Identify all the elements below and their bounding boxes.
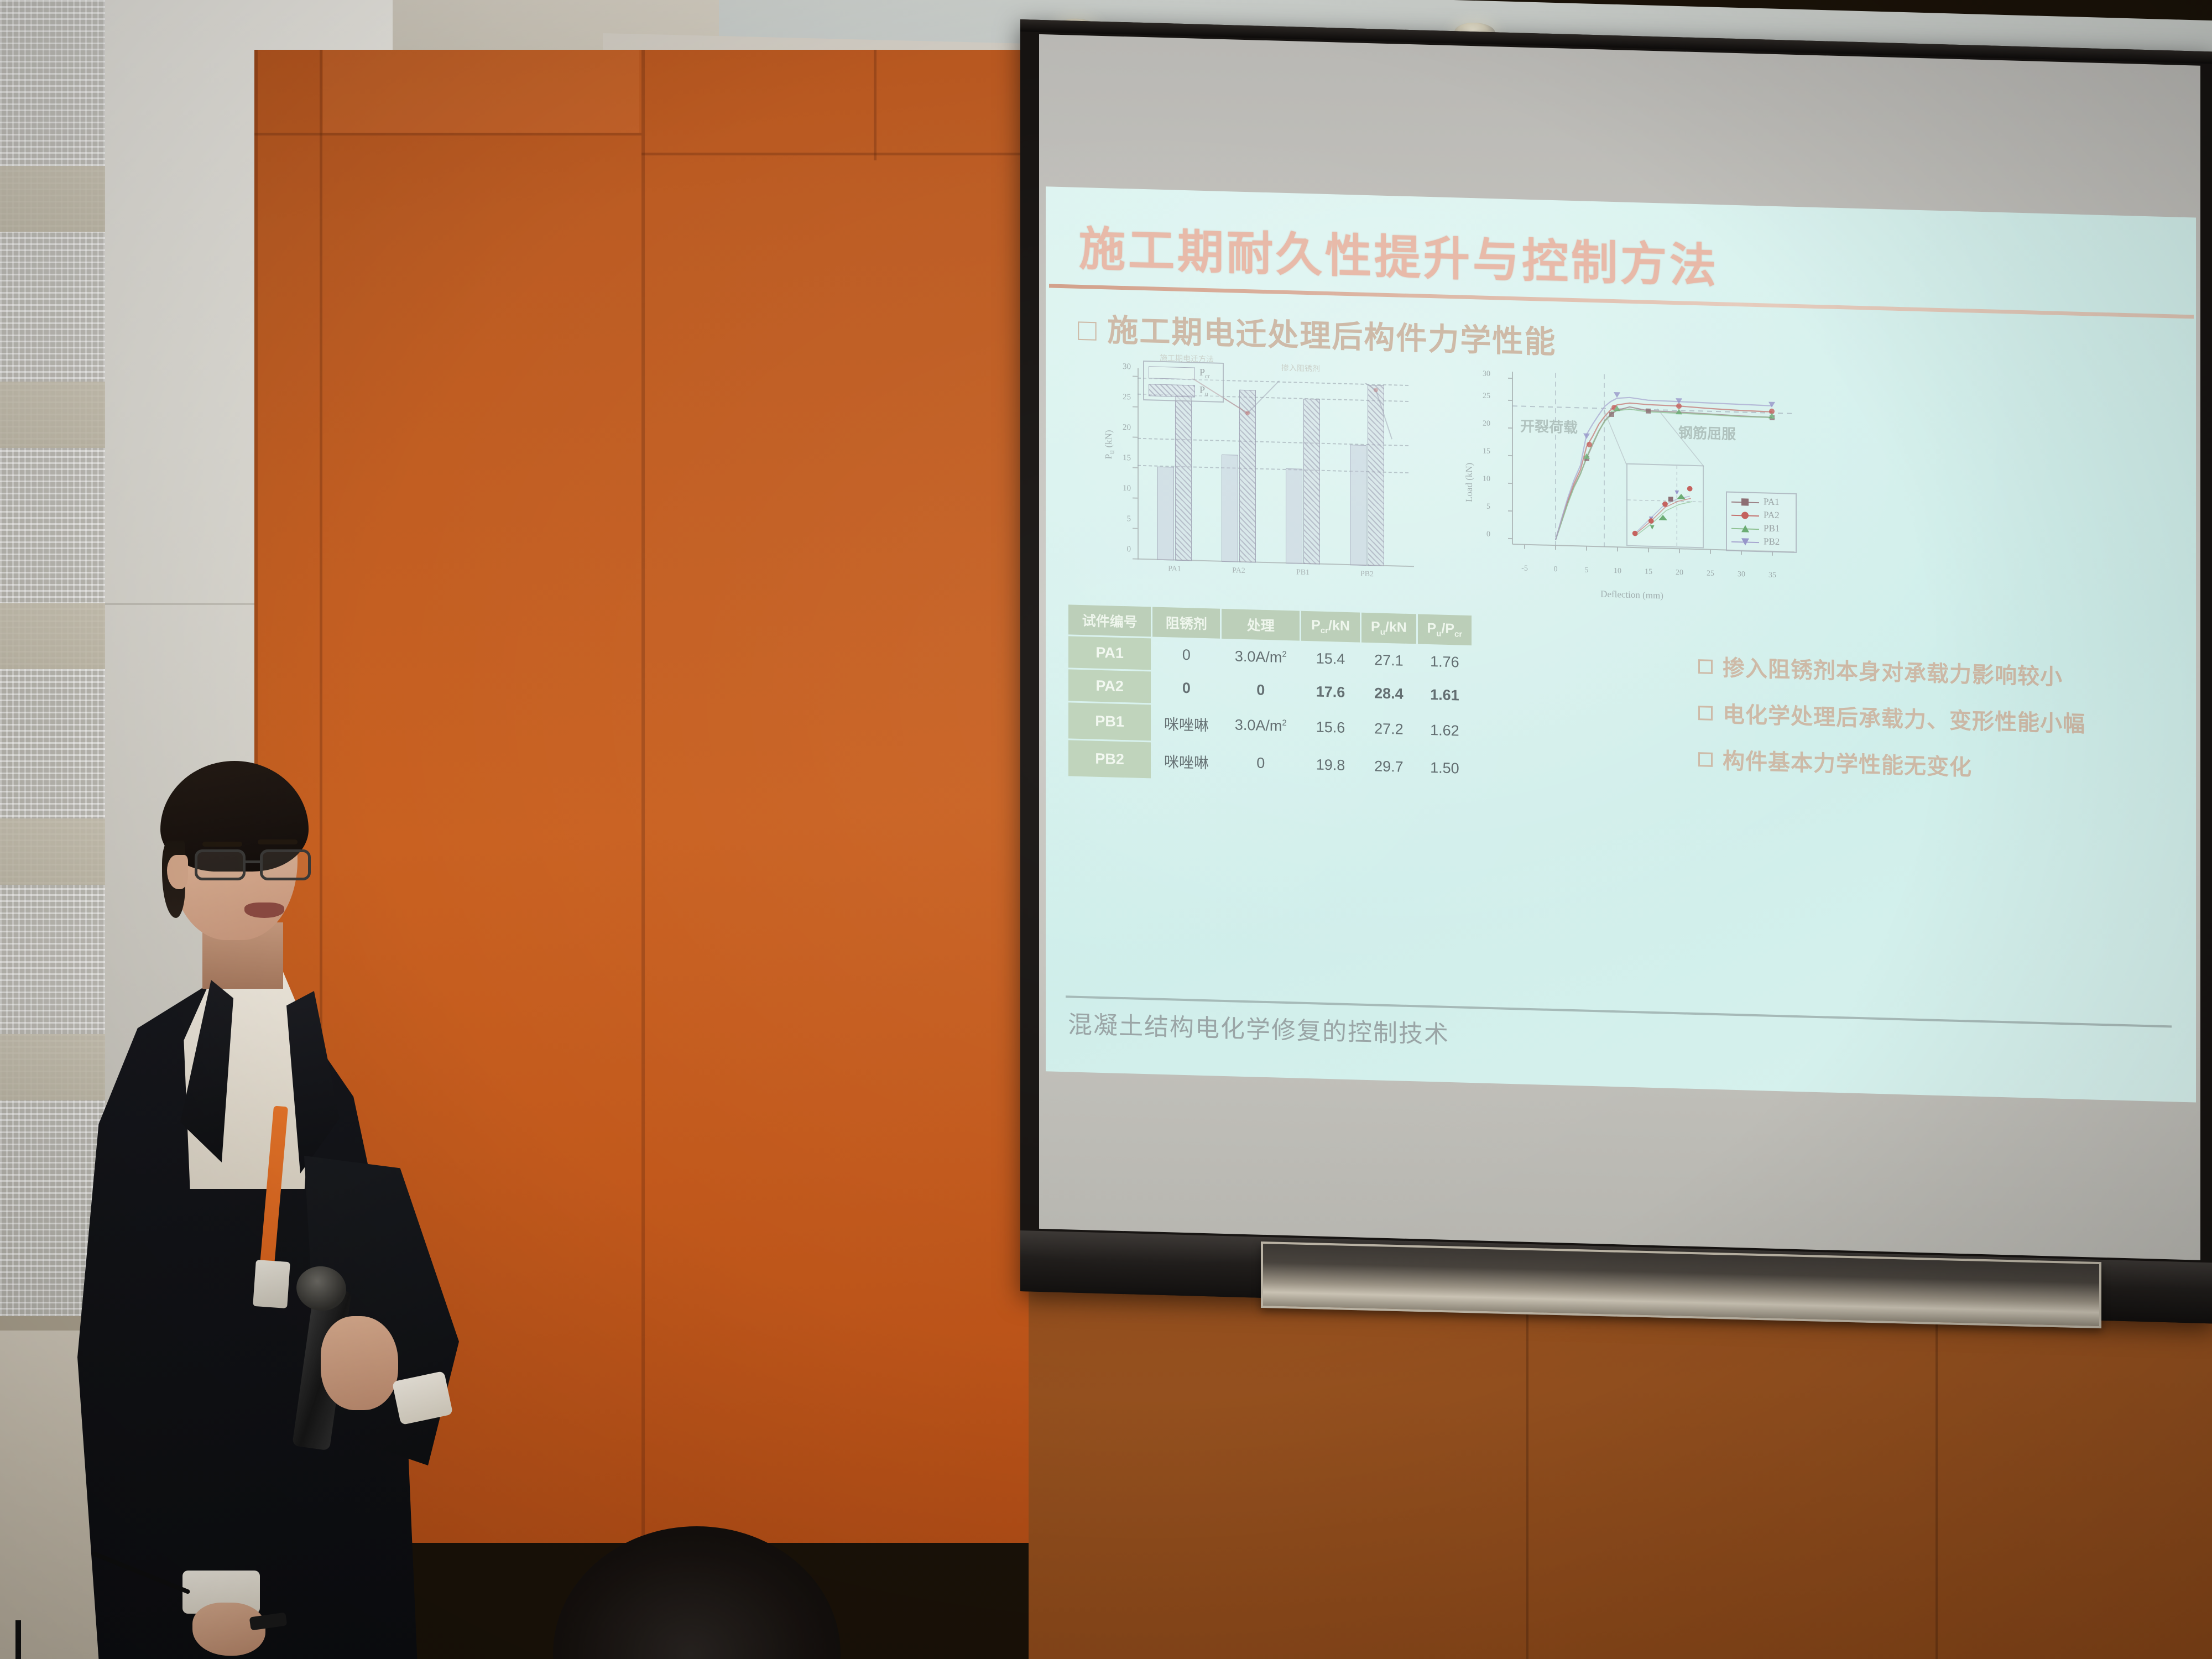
bar-pu-PB2 <box>1368 385 1384 566</box>
conclusion-text-1: 掺入阻锈剂本身对承载力影响较小 <box>1723 656 2063 690</box>
line-chart-legend: PA1 PA2 PB1 <box>1726 492 1797 553</box>
conference-room-scene: 施工期耐久性提升与控制方法 □ 施工期电迁处理后构件力学性能 施工期电迁方法 掺… <box>0 0 2212 1659</box>
conclusion-item-3: 构件基本力学性能无变化 <box>1698 742 2196 787</box>
legend-marker-pb2 <box>1741 538 1749 545</box>
bar-chart-y-axis <box>1138 368 1139 560</box>
line-chart-zoom-inset <box>1626 463 1704 549</box>
legend-marker-pa2 <box>1741 512 1749 519</box>
slide-section-heading: □ 施工期电迁处理后构件力学性能 <box>1078 305 1556 362</box>
bar-chart-category-label: PA2 <box>1232 566 1245 576</box>
conclusion-text-2: 电化学处理后承载力、变形性能小幅 <box>1723 702 2085 737</box>
bar-chart-y-axis-label: Pu (kN) <box>1103 430 1117 460</box>
cell-treatment: 0 <box>1222 674 1300 707</box>
projection-screen: 施工期耐久性提升与控制方法 □ 施工期电迁处理后构件力学性能 施工期电迁方法 掺… <box>1020 19 2212 1323</box>
cell-inhibitor: 0 <box>1152 638 1220 671</box>
cell-pcr: 15.4 <box>1301 643 1360 676</box>
line-chart-annotation-cracking-load: 开裂荷载 <box>1520 415 1578 437</box>
line-chart-y-tick: 30 <box>1483 370 1490 379</box>
line-chart-y-tick: 5 <box>1486 503 1490 512</box>
presenter-eyebrow <box>202 842 242 847</box>
legend-swatch-pu <box>1149 384 1195 397</box>
audience-member-head <box>553 1526 841 1659</box>
conclusion-item-2: 电化学处理后承载力、变形性能小幅 <box>1698 696 2196 741</box>
screen-surface: 施工期耐久性提升与控制方法 □ 施工期电迁处理后构件力学性能 施工期电迁方法 掺… <box>1039 34 2200 1260</box>
cell-specimen-id: PA2 <box>1068 669 1151 703</box>
legend-marker-pb1 <box>1741 525 1749 532</box>
slide-title: 施工期耐久性提升与控制方法 <box>1079 212 1719 296</box>
specimen-results-table: 试件编号 阻锈剂 处理 Pcr/kN Pu/kN Pu/Pcr PA1 0 3. <box>1067 603 1473 789</box>
line-chart: Load (kN) Deflection (mm) <box>1466 364 1809 611</box>
bar-pu-PB1 <box>1303 399 1320 565</box>
cell-specimen-id: PB2 <box>1068 740 1151 778</box>
legend-label-pa2: PA2 <box>1764 509 1780 521</box>
conclusion-text-3: 构件基本力学性能无变化 <box>1723 749 1972 780</box>
cell-specimen-id: PA1 <box>1068 636 1151 670</box>
line-chart-y-axis-label: Load (kN) <box>1464 462 1475 502</box>
col-header-specimen-id: 试件编号 <box>1068 604 1151 637</box>
line-chart-x-tick: 20 <box>1676 568 1683 577</box>
line-chart-y-tick: 25 <box>1483 392 1490 401</box>
line-chart-x-tick: -5 <box>1521 565 1528 573</box>
cell-treatment: 0 <box>1222 744 1300 782</box>
line-chart-x-tick: 5 <box>1585 566 1589 575</box>
checkbox-square-icon <box>1698 659 1713 674</box>
cell-specimen-id: PB1 <box>1068 702 1151 740</box>
presenter <box>72 774 470 1659</box>
line-chart-y-tick: 15 <box>1483 447 1490 456</box>
cell-treatment: 3.0A/m2 <box>1222 707 1300 745</box>
line-chart-plot-area: 0 5 10 15 20 25 30 -5 0 5 10 15 20 <box>1496 371 1794 567</box>
presenter-right-hand <box>321 1316 398 1410</box>
bar-pcr-PA2 <box>1222 455 1238 562</box>
presenter-eyebrow <box>258 839 298 844</box>
bar-pu-PA1 <box>1175 396 1192 561</box>
line-chart-x-tick: 10 <box>1614 567 1621 576</box>
col-header-inhibitor: 阻锈剂 <box>1152 607 1220 638</box>
conclusion-item-1: 掺入阻锈剂本身对承载力影响较小 <box>1698 649 2196 695</box>
line-chart-x-tick: 25 <box>1707 570 1714 578</box>
floor-cable <box>15 1620 21 1659</box>
cell-pcr: 19.8 <box>1301 747 1360 784</box>
legend-label-pcr: Pcr <box>1199 367 1210 380</box>
bar-pcr-PB2 <box>1350 445 1366 566</box>
bar-pcr-PB1 <box>1286 468 1302 564</box>
line-chart-x-tick: 35 <box>1768 571 1776 580</box>
name-badge <box>253 1260 290 1308</box>
legend-marker-pa1 <box>1741 498 1749 505</box>
presentation-slide: 施工期耐久性提升与控制方法 □ 施工期电迁处理后构件力学性能 施工期电迁方法 掺… <box>1046 186 2196 1102</box>
legend-label-pa1: PA1 <box>1764 496 1780 508</box>
checkbox-square-icon <box>1698 706 1713 721</box>
eyeglasses-icon <box>195 849 312 884</box>
cell-pcr: 17.6 <box>1301 676 1360 709</box>
line-chart-x-tick: 30 <box>1738 570 1745 579</box>
legend-swatch-pcr <box>1149 366 1195 379</box>
line-chart-x-tick: 15 <box>1645 568 1652 577</box>
bar-pcr-PA1 <box>1157 467 1174 561</box>
cell-pu: 27.2 <box>1361 711 1416 748</box>
line-chart-annotation-rebar-yield: 钢筋屈服 <box>1678 421 1736 444</box>
line-chart-y-tick: 20 <box>1483 420 1490 429</box>
cell-inhibitor: 咪唑啉 <box>1152 705 1220 742</box>
cell-ratio: 1.62 <box>1418 712 1472 749</box>
cell-inhibitor: 0 <box>1152 671 1220 705</box>
presenter-ear <box>167 855 188 889</box>
bar-chart-legend: Pcr Pu <box>1143 361 1224 403</box>
bar-chart-annotation-right: 掺入阻锈剂 <box>1281 362 1320 374</box>
bar-chart-category-label: PB2 <box>1360 570 1374 580</box>
legend-label-pb2: PB2 <box>1764 536 1780 547</box>
col-header-treatment: 处理 <box>1222 609 1300 641</box>
line-chart-x-axis-label: Deflection (mm) <box>1600 588 1663 601</box>
presenter-mouth <box>244 902 284 918</box>
bar-chart: 施工期电迁方法 掺入阻锈剂 Pu (kN) 0 5 10 15 20 25 30 <box>1107 354 1416 589</box>
cell-pu: 28.4 <box>1361 677 1416 711</box>
cell-ratio: 1.76 <box>1418 645 1472 679</box>
cell-pu: 29.7 <box>1361 748 1416 786</box>
cell-inhibitor: 咪唑啉 <box>1152 742 1220 780</box>
bar-pu-PA2 <box>1239 390 1256 563</box>
cell-pu: 27.1 <box>1361 644 1416 677</box>
legend-label-pu: Pu <box>1199 384 1208 398</box>
col-header-ratio: Pu/Pcr <box>1418 614 1472 645</box>
legend-label-pb1: PB1 <box>1764 523 1780 534</box>
cell-treatment: 3.0A/m2 <box>1222 640 1300 674</box>
col-header-pcr: Pcr/kN <box>1301 611 1360 643</box>
bar-chart-category-label: PB1 <box>1296 568 1310 578</box>
cell-ratio: 1.61 <box>1418 679 1472 712</box>
checkbox-square-icon <box>1698 752 1713 767</box>
bar-chart-category-label: PA1 <box>1168 565 1181 574</box>
line-chart-x-tick: 0 <box>1554 565 1558 574</box>
slide-footer: 混凝土结构电化学修复的控制技术 <box>1068 1004 1449 1050</box>
cell-pcr: 15.6 <box>1301 709 1360 747</box>
bar-chart-plot-area: 0 5 10 15 20 25 30 <box>1138 377 1399 567</box>
line-chart-y-tick: 0 <box>1486 530 1490 539</box>
cell-ratio: 1.50 <box>1418 749 1472 787</box>
conclusion-list: 掺入阻锈剂本身对承载力影响较小 电化学处理后承载力、变形性能小幅 构件基本力学性… <box>1698 649 2196 802</box>
line-chart-y-tick: 10 <box>1483 475 1490 484</box>
col-header-pu: Pu/kN <box>1361 613 1416 644</box>
